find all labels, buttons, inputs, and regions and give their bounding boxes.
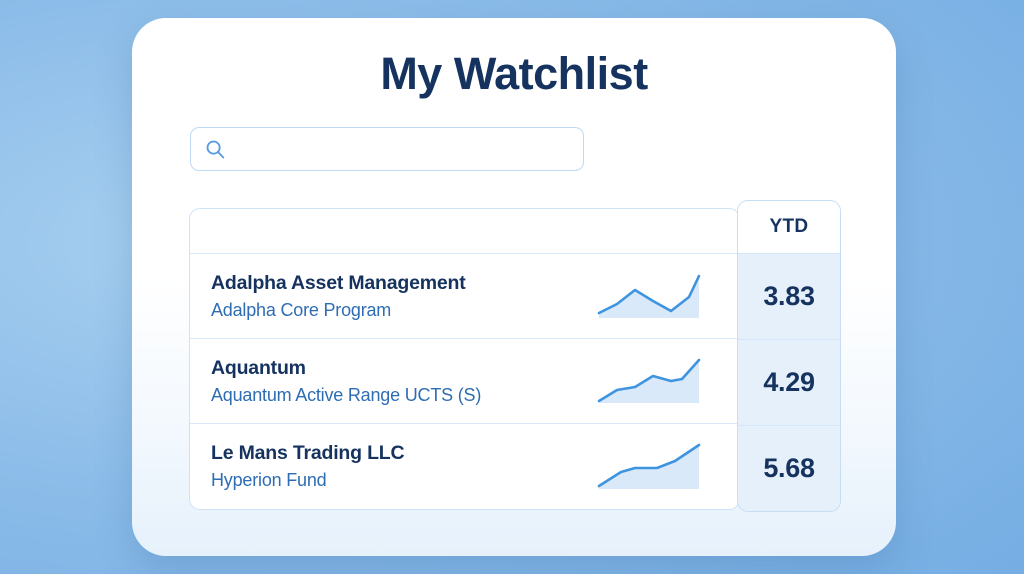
company-name: Adalpha Asset Management: [211, 272, 595, 295]
search-input[interactable]: [236, 139, 569, 159]
fund-name: Aquantum Active Range UCTS (S): [211, 385, 595, 406]
watchlist-table: Adalpha Asset Management Adalpha Core Pr…: [189, 208, 740, 510]
table-row[interactable]: Le Mans Trading LLC Hyperion Fund: [190, 424, 739, 509]
search-field[interactable]: [190, 127, 584, 171]
sparkline-chart: [595, 355, 739, 407]
watchlist-card: My Watchlist Adalpha Asset Management Ad…: [132, 18, 896, 556]
table-row[interactable]: Aquantum Aquantum Active Range UCTS (S): [190, 339, 739, 424]
ytd-value: 4.29: [738, 340, 840, 426]
sparkline-chart: [595, 441, 739, 493]
row-labels: Adalpha Asset Management Adalpha Core Pr…: [211, 272, 595, 321]
row-labels: Aquantum Aquantum Active Range UCTS (S): [211, 357, 595, 406]
row-labels: Le Mans Trading LLC Hyperion Fund: [211, 442, 595, 491]
search-icon: [205, 139, 226, 160]
ytd-column: YTD 3.83 4.29 5.68: [737, 200, 841, 512]
company-name: Le Mans Trading LLC: [211, 442, 595, 465]
ytd-value: 3.83: [738, 254, 840, 340]
ytd-value: 5.68: [738, 426, 840, 511]
column-header-ytd[interactable]: YTD: [738, 201, 840, 254]
page-title: My Watchlist: [132, 48, 896, 100]
screen: My Watchlist Adalpha Asset Management Ad…: [0, 0, 1024, 574]
table-row[interactable]: Adalpha Asset Management Adalpha Core Pr…: [190, 254, 739, 339]
fund-name: Hyperion Fund: [211, 470, 595, 491]
fund-name: Adalpha Core Program: [211, 300, 595, 321]
company-name: Aquantum: [211, 357, 595, 380]
table-header-row: [190, 209, 739, 254]
sparkline-chart: [595, 270, 739, 322]
